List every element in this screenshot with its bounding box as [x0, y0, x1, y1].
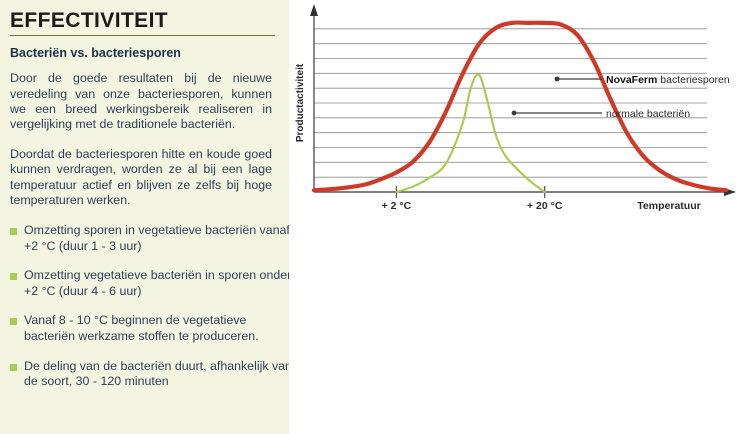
panel-subtitle: Bacteriën vs. bacteriesporen — [10, 46, 275, 60]
bullet-list: Omzetting sporen in vegetatieve bacterië… — [10, 223, 275, 390]
bullet-square-icon — [10, 273, 17, 280]
body-paragraph-1: Door de goede resultaten bij de nieuwe v… — [10, 71, 272, 132]
x-tick-label-20c: + 20 °C — [527, 200, 563, 212]
chart-gridlines — [314, 29, 707, 177]
bullet-square-icon — [10, 228, 17, 235]
infographic-root: EFFECTIVITEIT Bacteriën vs. bacteriespor… — [0, 0, 750, 434]
list-item-label: Omzetting sporen in vegetatieve bacterië… — [24, 223, 290, 253]
chart-panel: Productactiviteit Temperatuur + 2 °C + 2… — [289, 0, 750, 434]
list-item: Vanaf 8 - 10 °C beginnen de vegetatieve … — [10, 313, 292, 344]
list-item: Omzetting vegetatieve bacteriën in spore… — [10, 268, 292, 299]
title-divider — [10, 35, 275, 36]
bullet-square-icon — [10, 364, 17, 371]
body-paragraph-2: Doordat de bacteriesporen hitte en koude… — [10, 147, 272, 208]
x-tick-label-2c: + 2 °C — [382, 200, 412, 212]
list-item-label: De deling van de bacteriën duurt, afhank… — [24, 359, 292, 389]
x-axis-label: Temperatuur — [637, 200, 700, 212]
activity-temperature-chart: Productactiviteit Temperatuur + 2 °C + 2… — [289, 0, 750, 434]
novaferm-bacteriesporen-curve — [314, 23, 726, 191]
callout-leaders — [512, 77, 602, 116]
page-title: EFFECTIVITEIT — [10, 10, 275, 32]
list-item: Omzetting sporen in vegetatieve bacterië… — [10, 223, 292, 254]
y-axis — [310, 4, 318, 192]
bullet-square-icon — [10, 318, 17, 325]
x-axis — [314, 188, 736, 196]
info-panel: EFFECTIVITEIT Bacteriën vs. bacteriespor… — [0, 0, 289, 434]
normale-bacterien-curve — [396, 74, 544, 192]
list-item-label: Omzetting vegetatieve bacteriën in spore… — [24, 268, 291, 298]
list-item-label: Vanaf 8 - 10 °C beginnen de vegetatieve … — [24, 313, 259, 343]
legend-label-normale-bacterien: normale bacteriën — [606, 108, 690, 120]
y-axis-label: Productactiviteit — [295, 63, 306, 142]
list-item: De deling van de bacteriën duurt, afhank… — [10, 359, 292, 390]
legend-label-novaferm: NovaFerm bacteriesporen — [606, 74, 730, 86]
